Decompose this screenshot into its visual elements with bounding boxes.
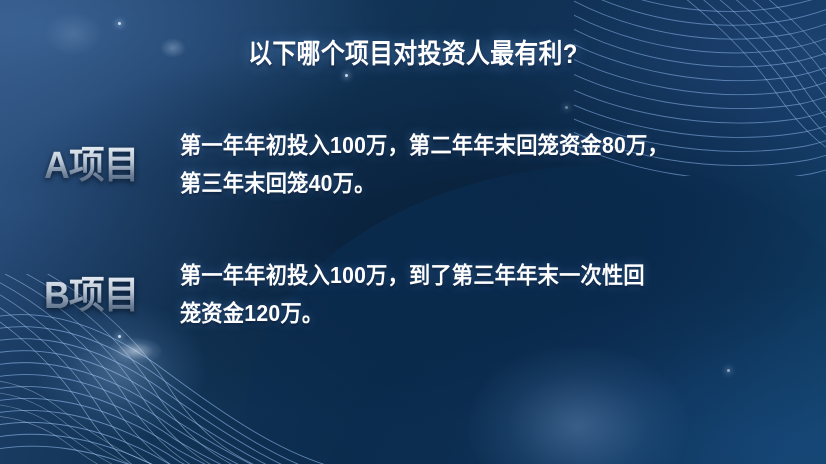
- option-a-badge: A项目: [44, 134, 138, 189]
- option-a-line-2: 第三年末回笼40万。: [180, 164, 758, 202]
- option-a-text: 第一年年初投入100万，第二年年末回笼资金80万， 第三年末回笼40万。: [180, 126, 758, 202]
- question-slide: 以下哪个项目对投资人最有利? A项目 第一年年初投入100万，第二年年末回笼资金…: [0, 0, 826, 464]
- option-b-line-1: 第一年年初投入100万，到了第三年年末一次性回: [180, 256, 758, 294]
- option-a-line-1: 第一年年初投入100万，第二年年末回笼资金80万，: [180, 126, 758, 164]
- slide-content: 以下哪个项目对投资人最有利? A项目 第一年年初投入100万，第二年年末回笼资金…: [0, 0, 826, 464]
- question-title: 以下哪个项目对投资人最有利?: [50, 32, 777, 71]
- option-b-text: 第一年年初投入100万，到了第三年年末一次性回 笼资金120万。: [180, 256, 758, 332]
- option-b-badge: B项目: [44, 264, 138, 319]
- option-b-line-2: 笼资金120万。: [180, 294, 758, 332]
